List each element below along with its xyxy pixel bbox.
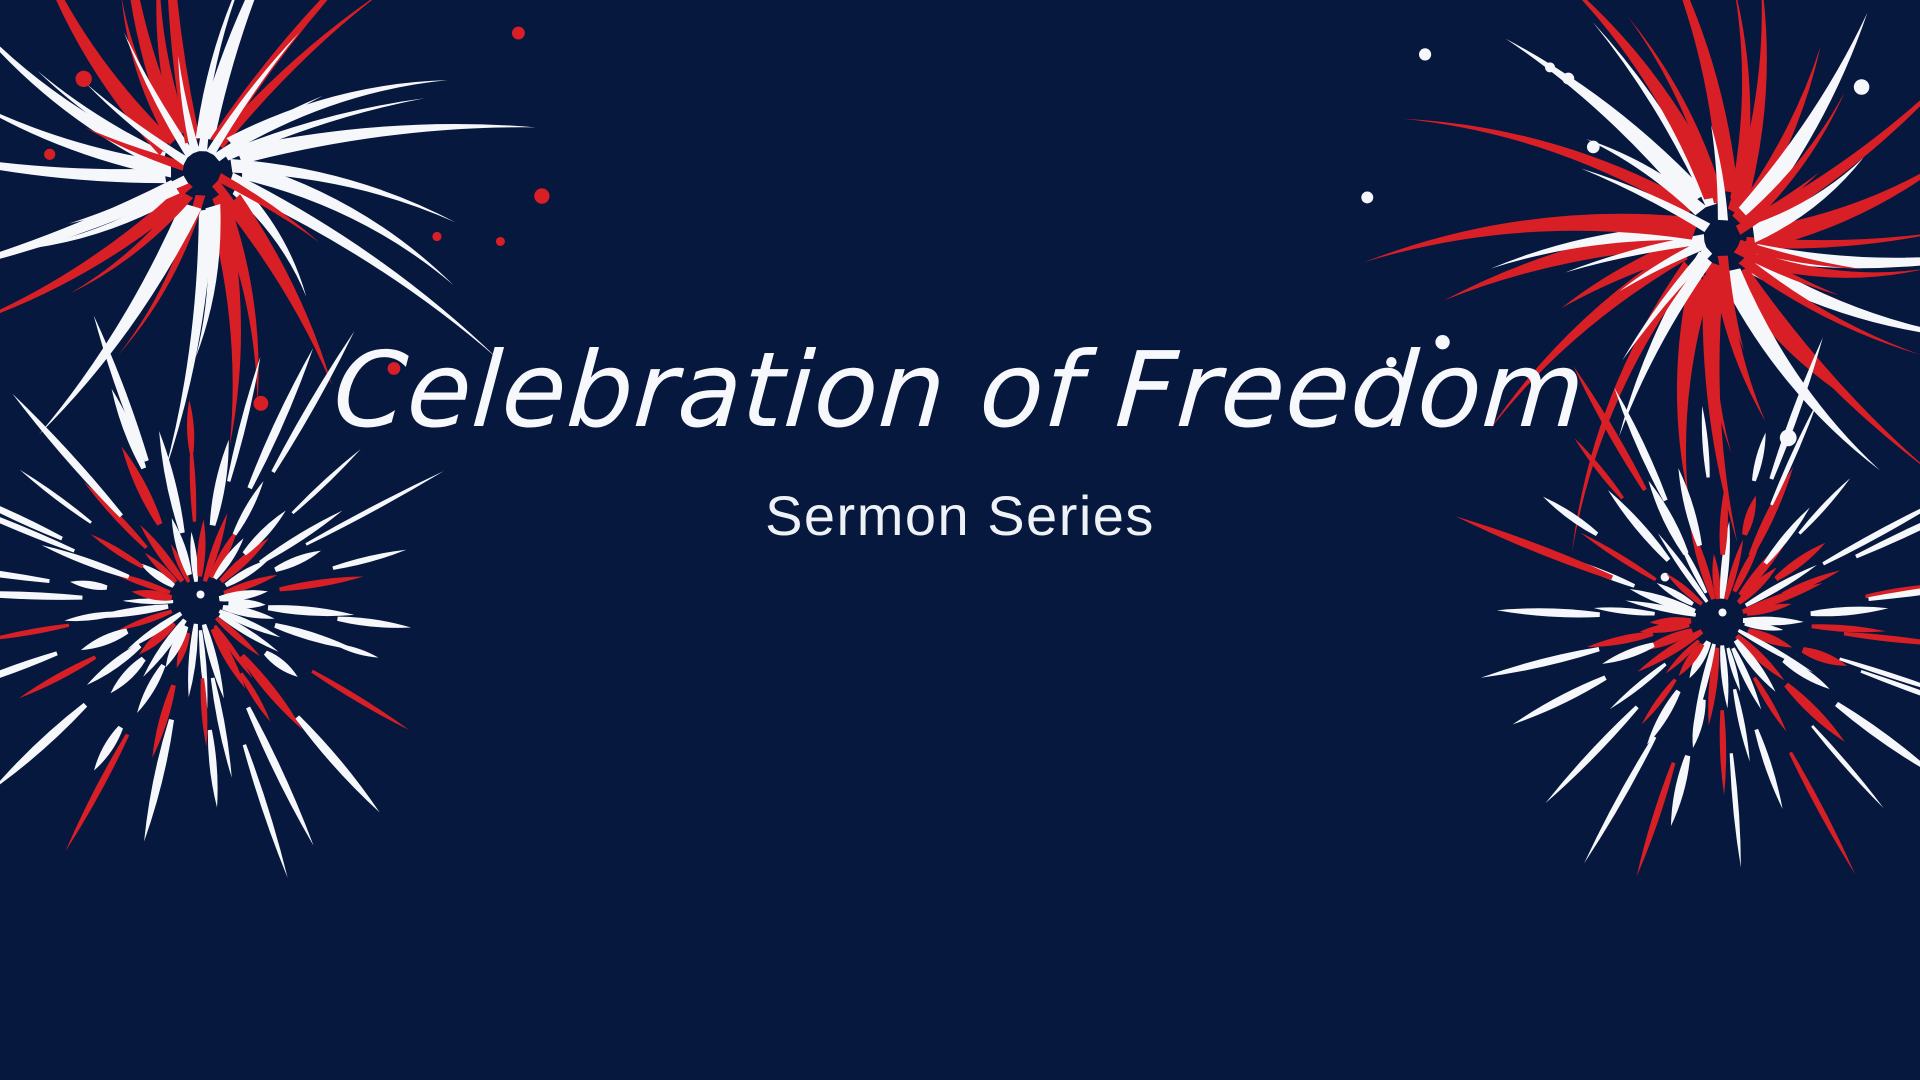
slide-text-block: Celebration of Freedom Sermon Series: [0, 0, 1920, 1080]
page-subtitle: Sermon Series: [765, 488, 1155, 544]
page-title: Celebration of Freedom: [331, 338, 1589, 442]
slide-canvas: Celebration of Freedom Sermon Series: [0, 0, 1920, 1080]
